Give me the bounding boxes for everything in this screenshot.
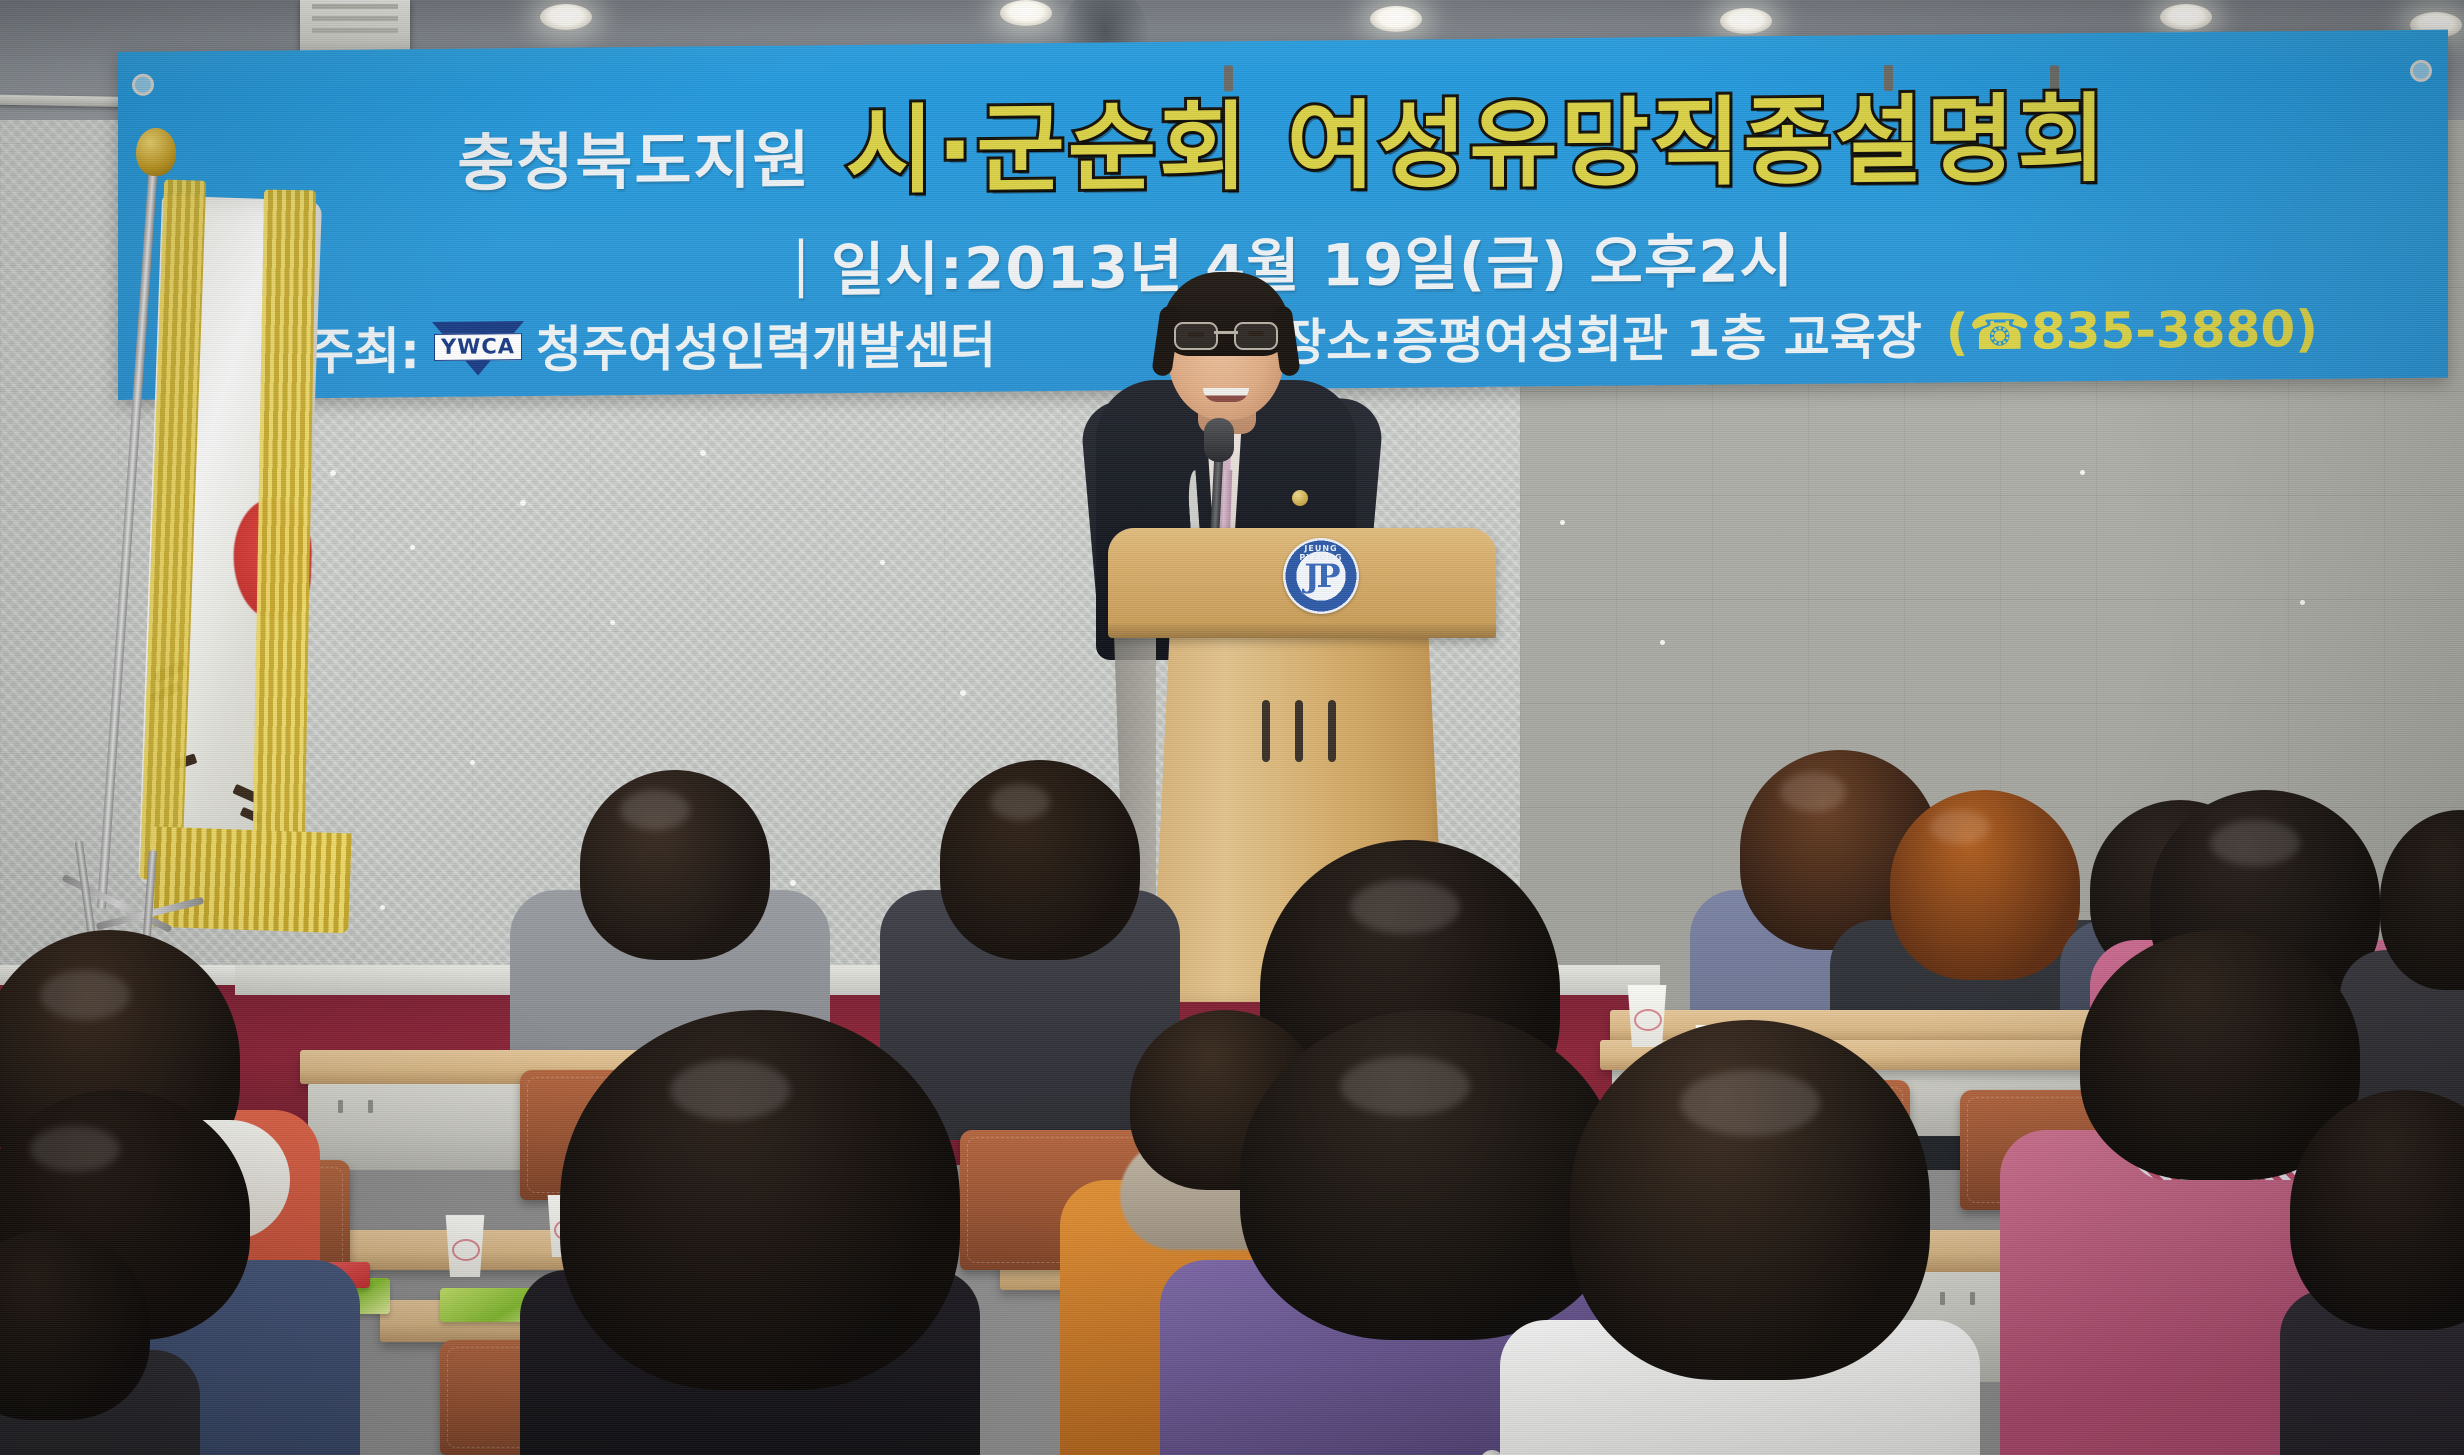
banner-host-name: 청주여성인력개발센터 xyxy=(536,306,996,382)
ywca-logo-text: YWCA xyxy=(434,333,522,361)
banner-hanger-1 xyxy=(1224,65,1233,91)
paper-cup-2[interactable] xyxy=(443,1215,487,1277)
microphone-icon xyxy=(1204,418,1234,462)
banner-prefix-text: 충청북도지원 xyxy=(457,109,811,202)
banner-phone-text: (☎835-3880) xyxy=(1946,300,2318,362)
downlight-5 xyxy=(2160,4,2212,30)
banner-headline-row: 충청북도지원 시·군순회 여성유망직종설명회 xyxy=(118,88,2448,206)
banner-grommet-left xyxy=(132,74,154,96)
ywca-logo-icon: YWCA xyxy=(430,317,526,376)
banner-title-text: 시·군순회 여성유망직종설명회 xyxy=(846,91,2109,199)
banner-place-name: 증평여성회관 1층 교육장 xyxy=(1392,297,1922,374)
speaker-mouth xyxy=(1203,388,1249,402)
banner-host-group: ｜주최: YWCA 청주여성인력개발센터 xyxy=(258,306,996,385)
emblem-monogram-text: JP xyxy=(1304,557,1337,595)
flag-finial-icon xyxy=(136,128,176,176)
banner-place-group: ｜장소: 증평여성회관 1층 교육장 xyxy=(1230,297,1922,376)
downlight-4 xyxy=(1720,8,1772,34)
podium-vent-slots xyxy=(1262,700,1336,762)
vent-slot-1 xyxy=(1262,700,1270,762)
lapel-badge-icon xyxy=(1292,490,1308,506)
downlight-1 xyxy=(540,4,592,30)
vent-slot-2 xyxy=(1295,700,1303,762)
jeungpyeong-emblem-icon: JEUNG PYEONG JP xyxy=(1283,538,1359,614)
banner-grommet-right xyxy=(2410,60,2432,82)
emblem-arc-text: JEUNG PYEONG xyxy=(1283,544,1359,562)
downlight-3 xyxy=(1370,6,1422,32)
downlight-2 xyxy=(1000,0,1052,26)
vent-slot-3 xyxy=(1328,700,1336,762)
paper-cup-1[interactable] xyxy=(1625,985,1669,1047)
presentation-photo-scene: 충청북도지원 시·군순회 여성유망직종설명회 ｜일시:2013년 4월 19일(… xyxy=(0,0,2464,1455)
